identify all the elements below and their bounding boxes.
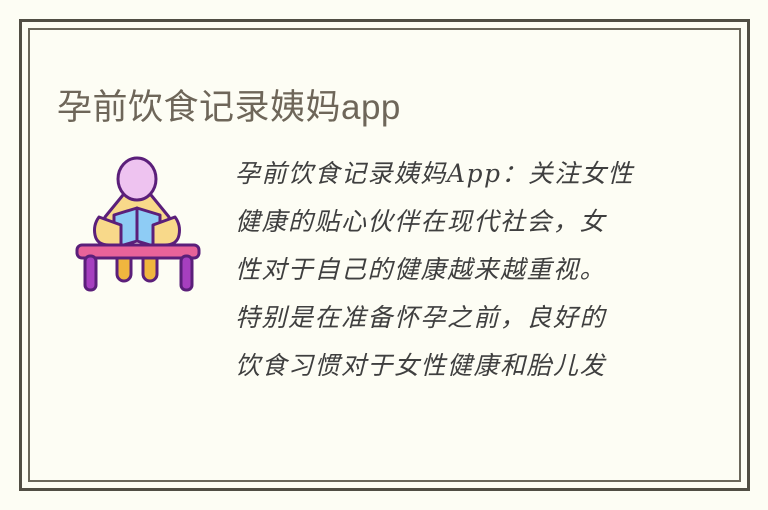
article-line: 性对于自己的健康越来越重视。 — [235, 246, 675, 294]
article-body: 孕前饮食记录姨妈App：关注女性 健康的贴心伙伴在现代社会，女 性对于自己的健康… — [235, 150, 675, 390]
page-title: 孕前饮食记录姨妈app — [57, 85, 401, 131]
document-page: 孕前饮食记录姨妈app — [0, 0, 768, 510]
article-line: 特别是在准备怀孕之前，良好的 — [235, 294, 675, 342]
article-line: 孕前饮食记录姨妈App：关注女性 — [235, 150, 675, 198]
reading-person-icon — [71, 155, 211, 295]
article-line: 健康的贴心伙伴在现代社会，女 — [235, 198, 675, 246]
reading-person-illustration — [71, 155, 211, 295]
article-content: 孕前饮食记录姨妈App：关注女性 健康的贴心伙伴在现代社会，女 性对于自己的健康… — [57, 150, 697, 410]
article-line: 饮食习惯对于女性健康和胎儿发 — [235, 342, 675, 390]
